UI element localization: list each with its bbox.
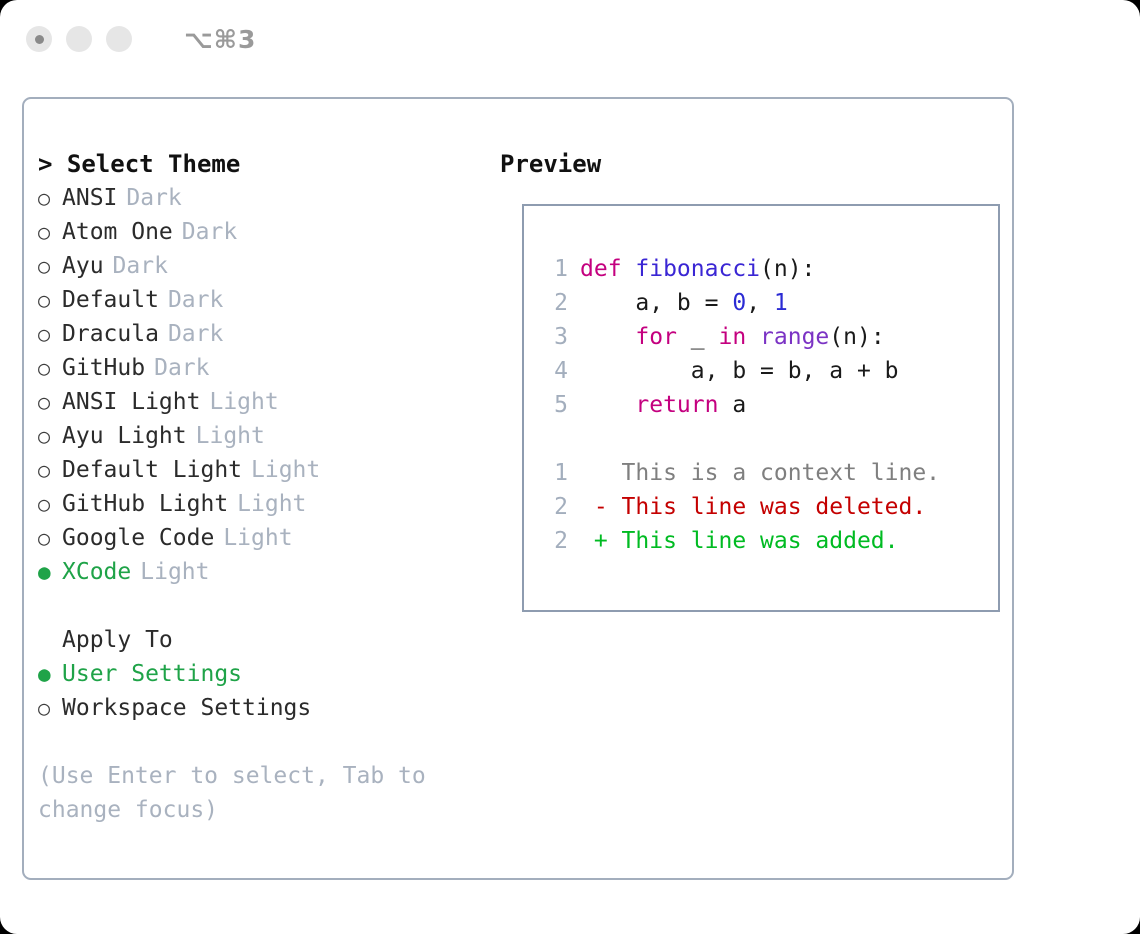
preview-heading: Preview [500, 147, 1000, 181]
theme-option-label: ANSI Light [62, 385, 200, 419]
radio-unselected-icon: ○ [38, 317, 62, 351]
code-token: (n): [760, 256, 815, 282]
radio-unselected-icon: ○ [38, 385, 62, 419]
code-token: 1 [774, 290, 788, 316]
theme-option-label: GitHub Light [62, 487, 228, 521]
theme-option-default[interactable]: ○DefaultDark [38, 283, 488, 317]
window-titlebar: ⌥⌘3 [0, 0, 1140, 78]
apply-to-option-user-settings[interactable]: ●User Settings [38, 657, 488, 691]
code-token: fibonacci [635, 256, 760, 282]
code-line-content: def fibonacci(n): [580, 252, 815, 286]
theme-option-kind-badge: Light [140, 555, 209, 589]
diff-sample: 1 This is a context line.2 - This line w… [538, 456, 998, 558]
diff-line-number: 1 [538, 456, 568, 490]
theme-option-label: Default Light [62, 453, 242, 487]
window-dot-active-inner [35, 35, 44, 44]
code-token: range [760, 324, 829, 350]
radio-unselected-icon: ○ [38, 215, 62, 249]
code-line-number: 4 [538, 354, 568, 388]
code-token: a, b = [580, 290, 732, 316]
theme-option-dracula[interactable]: ○DraculaDark [38, 317, 488, 351]
preview-column: Preview 1def fibonacci(n):2 a, b = 0, 13… [500, 147, 1000, 181]
theme-option-kind-badge: Light [237, 487, 306, 521]
theme-list-column: > Select Theme ○ANSIDark○Atom OneDark○Ay… [38, 147, 488, 827]
apply-to-label: Apply To [38, 623, 488, 657]
code-line-number: 1 [538, 252, 568, 286]
theme-option-label: ANSI [62, 181, 117, 215]
code-line: 3 for _ in range(n): [538, 320, 998, 354]
theme-option-kind-badge: Dark [168, 283, 223, 317]
theme-option-kind-badge: Dark [168, 317, 223, 351]
code-line-content: for _ in range(n): [580, 320, 885, 354]
code-line-number: 2 [538, 286, 568, 320]
radio-unselected-icon: ○ [38, 283, 62, 317]
theme-option-default-light[interactable]: ○Default LightLight [38, 453, 488, 487]
code-token: , [746, 290, 774, 316]
keyboard-shortcut-label: ⌥⌘3 [184, 25, 256, 54]
code-token [580, 392, 635, 418]
radio-unselected-icon: ○ [38, 249, 62, 283]
window-dot-second[interactable] [66, 26, 92, 52]
theme-option-label: Google Code [62, 521, 214, 555]
code-line: 2 a, b = 0, 1 [538, 286, 998, 320]
code-token: a [718, 392, 746, 418]
theme-option-label: GitHub [62, 351, 145, 385]
code-token: def [580, 256, 635, 282]
code-line: 4 a, b = b, a + b [538, 354, 998, 388]
theme-list: ○ANSIDark○Atom OneDark○AyuDark○DefaultDa… [38, 181, 488, 589]
diff-line-number: 2 [538, 490, 568, 524]
theme-option-kind-badge: Dark [126, 181, 181, 215]
code-line: 5 return a [538, 388, 998, 422]
diff-line: 2 + This line was added. [538, 524, 998, 558]
theme-option-github-light[interactable]: ○GitHub LightLight [38, 487, 488, 521]
window-dot-active[interactable] [26, 26, 52, 52]
code-token: (n): [829, 324, 884, 350]
theme-option-kind-badge: Dark [154, 351, 209, 385]
theme-option-label: Ayu [62, 249, 104, 283]
diff-line-content: This is a context line. [580, 456, 940, 490]
theme-option-kind-badge: Light [223, 521, 292, 555]
keyboard-hint-text: (Use Enter to select, Tab to change focu… [38, 759, 448, 827]
preview-box: 1def fibonacci(n):2 a, b = 0, 13 for _ i… [522, 204, 1000, 612]
code-line-content: a, b = 0, 1 [580, 286, 788, 320]
radio-selected-icon: ● [38, 657, 62, 691]
theme-option-ayu[interactable]: ○AyuDark [38, 249, 488, 283]
diff-line: 1 This is a context line. [538, 456, 998, 490]
code-line-number: 3 [538, 320, 568, 354]
theme-option-kind-badge: Light [209, 385, 278, 419]
code-token [746, 324, 760, 350]
radio-unselected-icon: ○ [38, 419, 62, 453]
theme-option-kind-badge: Light [251, 453, 320, 487]
theme-option-github[interactable]: ○GitHubDark [38, 351, 488, 385]
code-token: for [635, 324, 677, 350]
apply-to-option-label: Workspace Settings [62, 691, 311, 725]
theme-option-label: Dracula [62, 317, 159, 351]
code-token: _ [677, 324, 719, 350]
diff-line: 2 - This line was deleted. [538, 490, 998, 524]
code-token: 0 [732, 290, 746, 316]
radio-selected-icon: ● [38, 555, 62, 589]
select-theme-heading: > Select Theme [38, 147, 488, 181]
radio-unselected-icon: ○ [38, 487, 62, 521]
diff-line-content: - This line was deleted. [580, 490, 926, 524]
code-token: in [718, 324, 746, 350]
code-token: return [635, 392, 718, 418]
code-line-content: a, b = b, a + b [580, 354, 899, 388]
theme-option-label: Ayu Light [62, 419, 187, 453]
code-token [580, 324, 635, 350]
radio-unselected-icon: ○ [38, 691, 62, 725]
radio-unselected-icon: ○ [38, 521, 62, 555]
apply-to-options: ●User Settings○Workspace Settings [38, 657, 488, 725]
theme-option-xcode[interactable]: ●XCodeLight [38, 555, 488, 589]
radio-unselected-icon: ○ [38, 453, 62, 487]
app-window: ⌥⌘3 > Select Theme ○ANSIDark○Atom OneDar… [0, 0, 1140, 934]
theme-option-atom-one[interactable]: ○Atom OneDark [38, 215, 488, 249]
theme-option-label: XCode [62, 555, 131, 589]
theme-option-kind-badge: Dark [113, 249, 168, 283]
theme-option-ansi-light[interactable]: ○ANSI LightLight [38, 385, 488, 419]
code-line: 1def fibonacci(n): [538, 252, 998, 286]
code-preview: 1def fibonacci(n):2 a, b = 0, 13 for _ i… [524, 206, 998, 558]
radio-unselected-icon: ○ [38, 181, 62, 215]
diff-line-number: 2 [538, 524, 568, 558]
radio-unselected-icon: ○ [38, 351, 62, 385]
theme-option-google-code[interactable]: ○Google CodeLight [38, 521, 488, 555]
code-sample: 1def fibonacci(n):2 a, b = 0, 13 for _ i… [538, 252, 998, 422]
theme-option-label: Atom One [62, 215, 173, 249]
code-diff-gap [538, 422, 998, 456]
apply-to-option-workspace-settings[interactable]: ○Workspace Settings [38, 691, 488, 725]
theme-picker-panel: > Select Theme ○ANSIDark○Atom OneDark○Ay… [22, 97, 1014, 880]
list-spacer [38, 589, 488, 623]
diff-line-content: + This line was added. [580, 524, 899, 558]
theme-option-ansi[interactable]: ○ANSIDark [38, 181, 488, 215]
theme-option-label: Default [62, 283, 159, 317]
theme-option-ayu-light[interactable]: ○Ayu LightLight [38, 419, 488, 453]
code-line-content: return a [580, 388, 746, 422]
theme-option-kind-badge: Light [196, 419, 265, 453]
theme-option-kind-badge: Dark [182, 215, 237, 249]
code-token: a, b = b, a + b [580, 358, 899, 384]
apply-to-option-label: User Settings [62, 657, 242, 691]
code-line-number: 5 [538, 388, 568, 422]
window-dot-third[interactable] [106, 26, 132, 52]
